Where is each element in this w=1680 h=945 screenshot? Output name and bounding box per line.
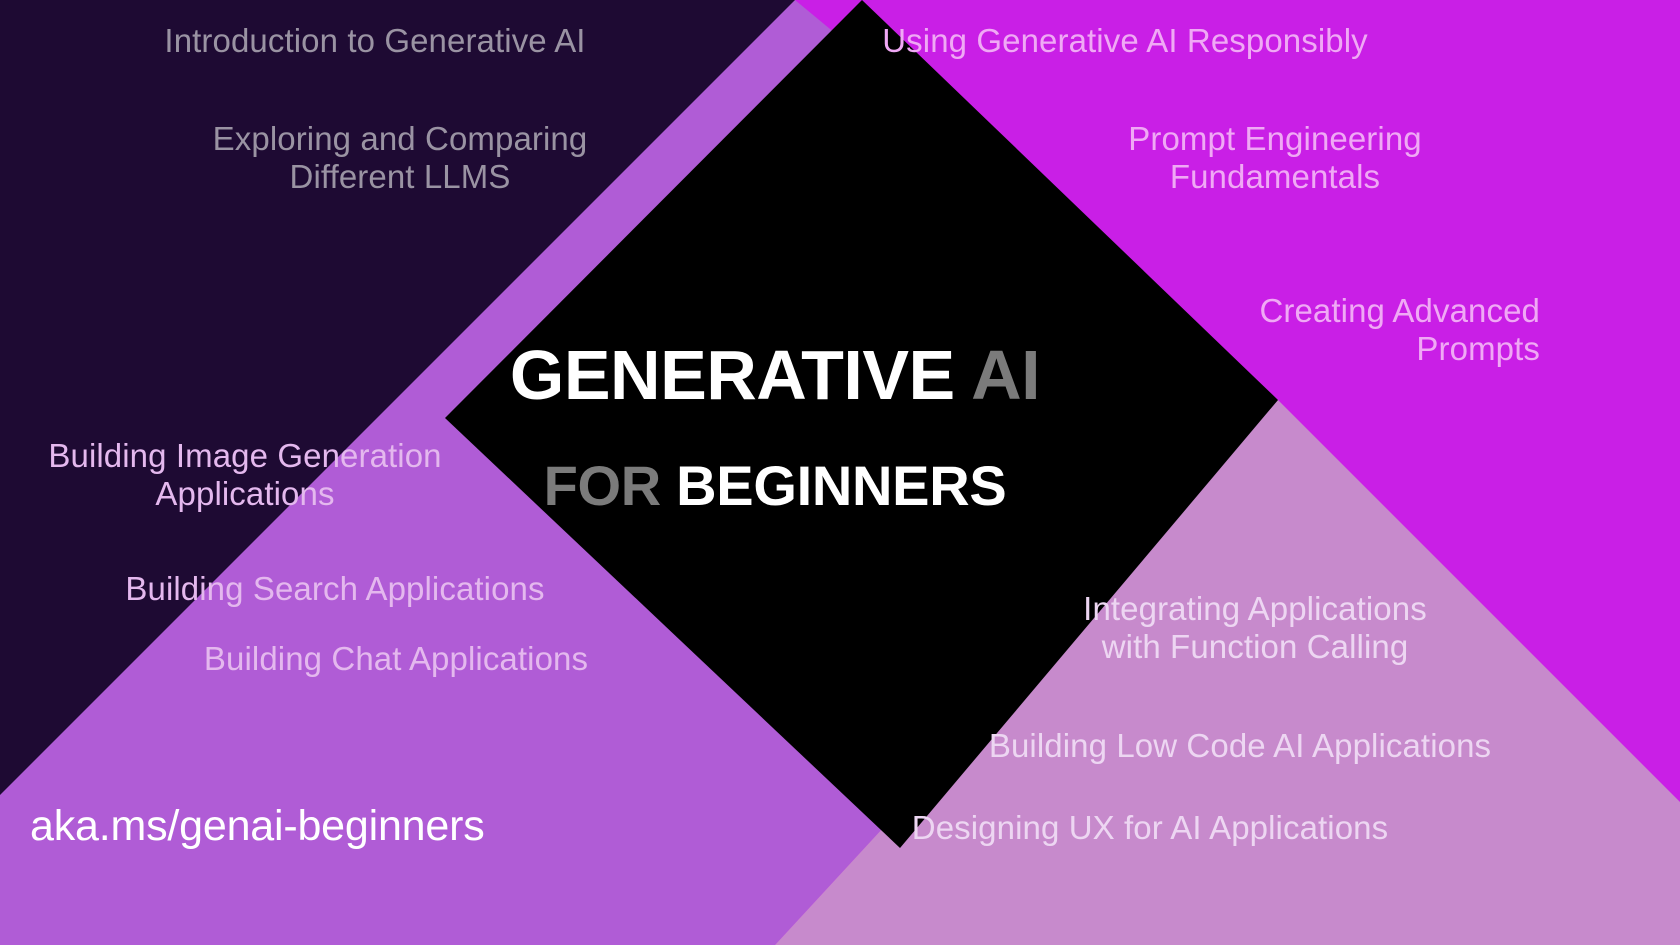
chapter-building-low-code-ai-applications: Building Low Code AI Applications — [930, 727, 1550, 765]
chapter-prompt-engineering-fundamentals: Prompt Engineering Fundamentals — [1035, 120, 1515, 197]
chapter-building-image-generation-applications: Building Image Generation Applications — [0, 437, 490, 514]
chapter-using-generative-ai-responsibly: Using Generative AI Responsibly — [830, 22, 1420, 60]
poster-url: aka.ms/genai-beginners — [30, 802, 485, 851]
chapter-building-chat-applications: Building Chat Applications — [90, 640, 702, 678]
chapter-intro-to-generative-ai: Introduction to Generative AI — [90, 22, 660, 60]
chapter-designing-ux-for-ai-applications: Designing UX for AI Applications — [855, 809, 1445, 847]
chapter-exploring-comparing-llms: Exploring and Comparing Different LLMS — [130, 120, 670, 197]
chapter-creating-advanced-prompts: Creating Advanced Prompts — [1040, 292, 1540, 369]
poster-canvas: Introduction to Generative AI Exploring … — [0, 0, 1680, 945]
chapter-integrating-applications-function-calling: Integrating Applications with Function C… — [1010, 590, 1500, 667]
chapter-building-search-applications: Building Search Applications — [30, 570, 640, 608]
